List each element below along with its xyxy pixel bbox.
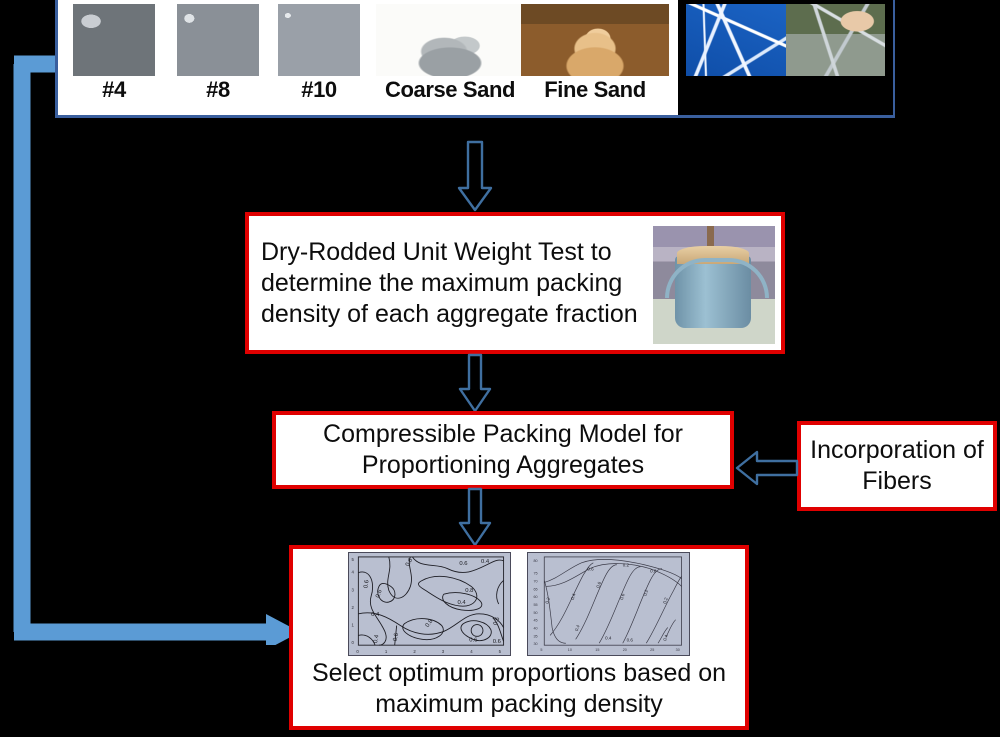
svg-text:0.4: 0.4: [605, 635, 612, 640]
coarse-sand-pile-image: [376, 4, 524, 76]
contour-plots-group: 0.4 0.8 0.4 0.6 0.6 0.8 0.6 0.4 0.6 0.6 …: [348, 552, 690, 656]
svg-text:30: 30: [676, 648, 680, 652]
material-item-no8: #8: [170, 4, 266, 103]
diagram-canvas: #4 #8 #10 Coarse Sand Fine Sand: [0, 0, 1000, 737]
packing-density-contour-plot-1: 0.4 0.8 0.4 0.6 0.6 0.8 0.6 0.4 0.6 0.6 …: [348, 552, 511, 656]
svg-text:60: 60: [533, 595, 537, 599]
material-item-fine-sand: Fine Sand: [520, 4, 670, 103]
svg-text:40: 40: [533, 627, 537, 631]
svg-text:0.8: 0.8: [465, 588, 474, 594]
packing-density-contour-plot-2: 0.2 0.4 0.6 0.6 0.2 0.2 0.6 0.2 0.8 0.4 …: [527, 552, 690, 656]
svg-text:0.6: 0.6: [627, 637, 634, 642]
fine-sand-pile-image: [521, 4, 669, 76]
material-item-no10: #10: [271, 4, 367, 103]
svg-text:0.6: 0.6: [493, 639, 502, 645]
svg-text:80: 80: [533, 559, 537, 563]
svg-text:65: 65: [533, 587, 537, 591]
svg-text:25: 25: [650, 648, 654, 652]
process-box-text: Dry-Rodded Unit Weight Test to determine…: [249, 237, 661, 330]
process-box-select-optimum[interactable]: 0.4 0.8 0.4 0.6 0.6 0.8 0.6 0.4 0.6 0.6 …: [289, 545, 749, 730]
material-label: Coarse Sand: [371, 77, 529, 103]
material-item-coarse-sand: Coarse Sand: [371, 4, 529, 103]
svg-text:0.6: 0.6: [587, 567, 594, 572]
svg-text:5: 5: [540, 648, 542, 652]
process-box-text: Incorporation of Fibers: [801, 435, 993, 497]
svg-text:55: 55: [533, 603, 537, 607]
process-box-dry-rodded-test[interactable]: Dry-Rodded Unit Weight Test to determine…: [245, 212, 785, 354]
process-box-incorporation-of-fibers[interactable]: Incorporation of Fibers: [797, 421, 997, 511]
materials-strip: #4 #8 #10 Coarse Sand Fine Sand: [55, 0, 895, 118]
svg-text:30: 30: [533, 642, 537, 646]
coarse-aggregate-no4-image: [73, 4, 155, 76]
process-box-text: Compressible Packing Model for Proportio…: [276, 419, 730, 481]
material-label: Fine Sand: [520, 77, 670, 103]
left-arrow-fibers-to-model: [735, 448, 799, 488]
svg-text:75: 75: [533, 572, 537, 576]
svg-text:15: 15: [595, 648, 599, 652]
down-arrow-materials-to-test: [455, 140, 495, 212]
svg-text:70: 70: [533, 579, 537, 583]
svg-text:35: 35: [533, 634, 537, 638]
material-item-no4: #4: [66, 4, 162, 103]
process-box-text: Select optimum proportions based on maxi…: [293, 658, 745, 720]
down-arrow-test-to-model: [455, 355, 495, 413]
svg-text:0.6: 0.6: [469, 637, 478, 643]
material-label: #8: [170, 77, 266, 103]
down-arrow-model-to-select: [455, 489, 495, 547]
steel-and-synthetic-fibers-image: [678, 0, 893, 115]
svg-text:0.4: 0.4: [371, 612, 380, 618]
svg-text:20: 20: [623, 648, 627, 652]
material-label: #10: [271, 77, 367, 103]
coarse-aggregate-no8-image: [177, 4, 259, 76]
material-label: #4: [66, 77, 162, 103]
svg-text:0.4: 0.4: [457, 600, 466, 606]
svg-text:0.4: 0.4: [481, 559, 490, 565]
svg-text:45: 45: [533, 619, 537, 623]
svg-text:0.6: 0.6: [459, 561, 468, 567]
svg-text:0.8: 0.8: [650, 569, 657, 574]
svg-text:0.2: 0.2: [623, 563, 630, 568]
process-box-packing-model[interactable]: Compressible Packing Model for Proportio…: [272, 411, 734, 489]
aggregate-no10-image: [278, 4, 360, 76]
dry-rodded-bucket-image: [653, 226, 775, 344]
svg-text:10: 10: [568, 648, 572, 652]
svg-text:50: 50: [533, 611, 537, 615]
